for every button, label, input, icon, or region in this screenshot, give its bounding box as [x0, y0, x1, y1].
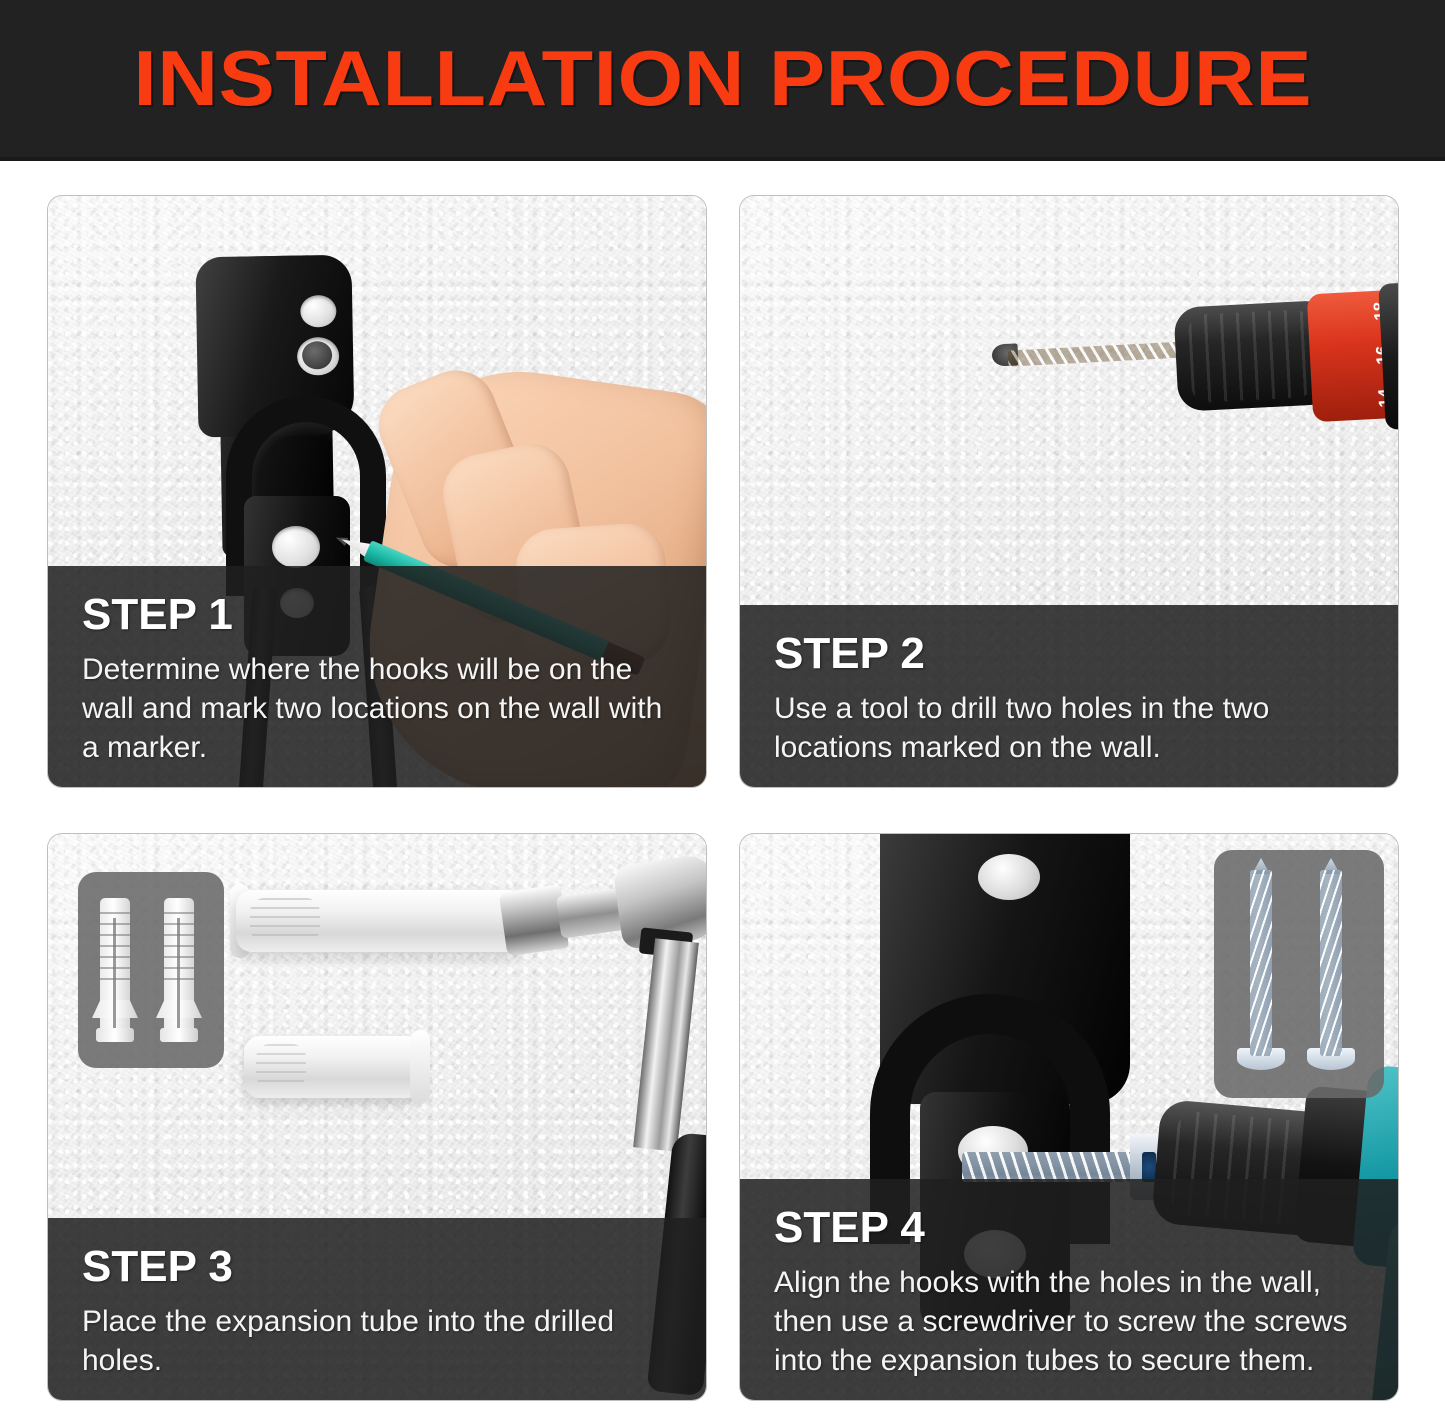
wall-anchors-inset [78, 872, 224, 1068]
step-description: Use a tool to drill two holes in the two… [774, 689, 1364, 767]
step-caption-1: STEP 1 Determine where the hooks will be… [48, 566, 706, 787]
screw-icon [1250, 870, 1272, 1056]
step-caption-4: STEP 4 Align the hooks with the holes in… [740, 1179, 1398, 1400]
screw-head-icon [1237, 1048, 1285, 1070]
step-title: STEP 3 [82, 1244, 672, 1290]
wall-anchor-icon [164, 898, 194, 1042]
screws-inset [1214, 850, 1384, 1098]
drill-chuck-icon [1173, 300, 1328, 412]
screw-tip-icon [1322, 858, 1340, 874]
expansion-tube-small-icon [244, 1036, 422, 1098]
step-card-1[interactable]: STEP 1 Determine where the hooks will be… [48, 196, 706, 787]
mounting-hole-marked-icon [297, 337, 340, 376]
mounting-hole-icon [272, 526, 320, 568]
step-description: Determine where the hooks will be on the… [82, 650, 672, 767]
expansion-tube-lip-icon [410, 1030, 430, 1104]
step-title: STEP 1 [82, 592, 672, 638]
wall-anchor-icon [100, 898, 130, 1042]
step-description: Place the expansion tube into the drille… [82, 1302, 672, 1380]
expansion-tube-large-icon [236, 890, 524, 952]
marker-dot-icon [302, 341, 332, 370]
step-title: STEP 2 [774, 631, 1364, 677]
installation-procedure-page: INSTALLATION PROCEDURE [0, 0, 1445, 1416]
pencil-lead-icon [334, 533, 349, 546]
screw-icon [1320, 870, 1342, 1056]
header-divider [0, 157, 1445, 161]
screw-shaft-icon [962, 1152, 1142, 1182]
mounting-hole-icon [978, 854, 1040, 900]
anchor-collar-icon [96, 1028, 134, 1042]
step-caption-2: STEP 2 Use a tool to drill two holes in … [740, 605, 1398, 787]
drill-bit-icon [1008, 341, 1189, 366]
step-description: Align the hooks with the holes in the wa… [774, 1263, 1364, 1380]
step-title: STEP 4 [774, 1205, 1364, 1251]
mounting-hole-icon [300, 295, 337, 328]
step-card-2[interactable]: 18 16 14 STEP 2 Use a tool to dri [740, 196, 1398, 787]
screw-threads-icon [962, 1152, 1142, 1182]
step-card-4[interactable]: 9 7 5 12 STEP 4 Align [740, 834, 1398, 1400]
page-title: INSTALLATION PROCEDURE [133, 33, 1312, 124]
anchor-wing-icon [156, 1000, 202, 1018]
drill-bit-flutes-icon [1008, 341, 1189, 366]
step-caption-3: STEP 3 Place the expansion tube into the… [48, 1218, 706, 1400]
anchor-wing-icon [92, 1000, 138, 1018]
step-card-3[interactable]: STEP 3 Place the expansion tube into the… [48, 834, 706, 1400]
screw-head-icon [1307, 1048, 1355, 1070]
screw-tip-icon [1252, 858, 1270, 874]
anchor-collar-icon [160, 1028, 198, 1042]
page-header: INSTALLATION PROCEDURE [0, 0, 1445, 157]
steps-grid: STEP 1 Determine where the hooks will be… [48, 196, 1398, 1400]
